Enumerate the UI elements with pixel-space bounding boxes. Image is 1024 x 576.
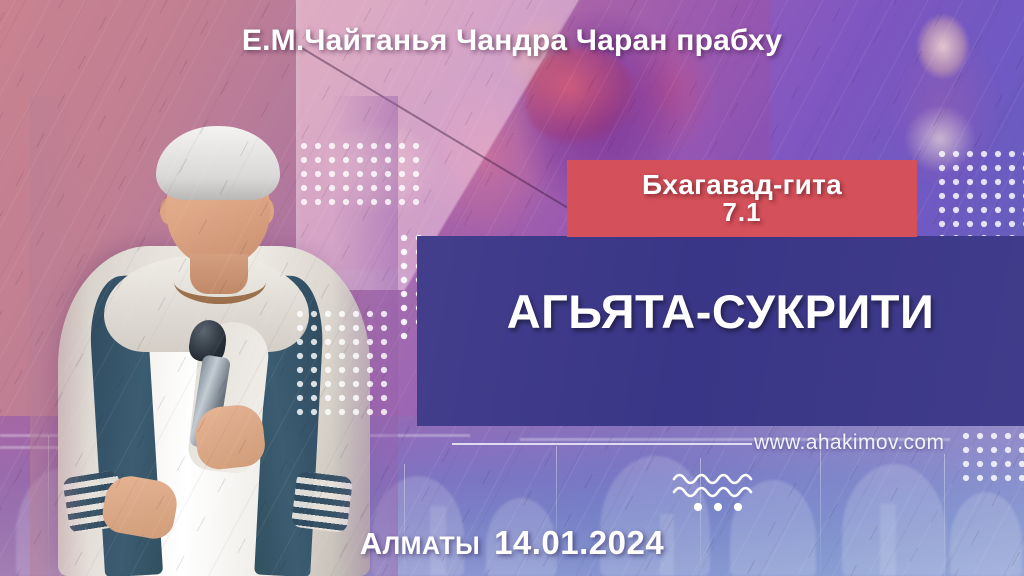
event-city-initial: А	[360, 526, 383, 561]
scripture-verse-number: 7.1	[722, 199, 761, 226]
lecture-title-slide: Е.М.Чайтанья Чандра Чаран прабху Бхагава…	[0, 0, 1024, 576]
speaker-hand-holding-mic	[193, 403, 267, 472]
horizontal-rule	[452, 443, 752, 445]
page-title: АГЬЯТА-СУКРИТИ	[417, 288, 1024, 335]
event-city: АЛМАТЫ	[360, 532, 480, 560]
website-url[interactable]: www.ahakimov.com	[754, 431, 944, 455]
scripture-name: Бхагавад-гита	[642, 171, 842, 200]
event-city-rest: ЛМАТЫ	[383, 532, 480, 560]
event-date-line: АЛМАТЫ14.01.2024	[0, 524, 1024, 562]
event-date: 14.01.2024	[494, 524, 664, 561]
speaker-name-heading: Е.М.Чайтанья Чандра Чаран прабху	[0, 24, 1024, 58]
wave-dots-ornament	[672, 470, 764, 514]
speaker-hair	[156, 126, 280, 200]
speaker-portrait-with-microphone	[44, 106, 384, 576]
scripture-reference-box: Бхагавад-гита 7.1	[567, 160, 917, 237]
